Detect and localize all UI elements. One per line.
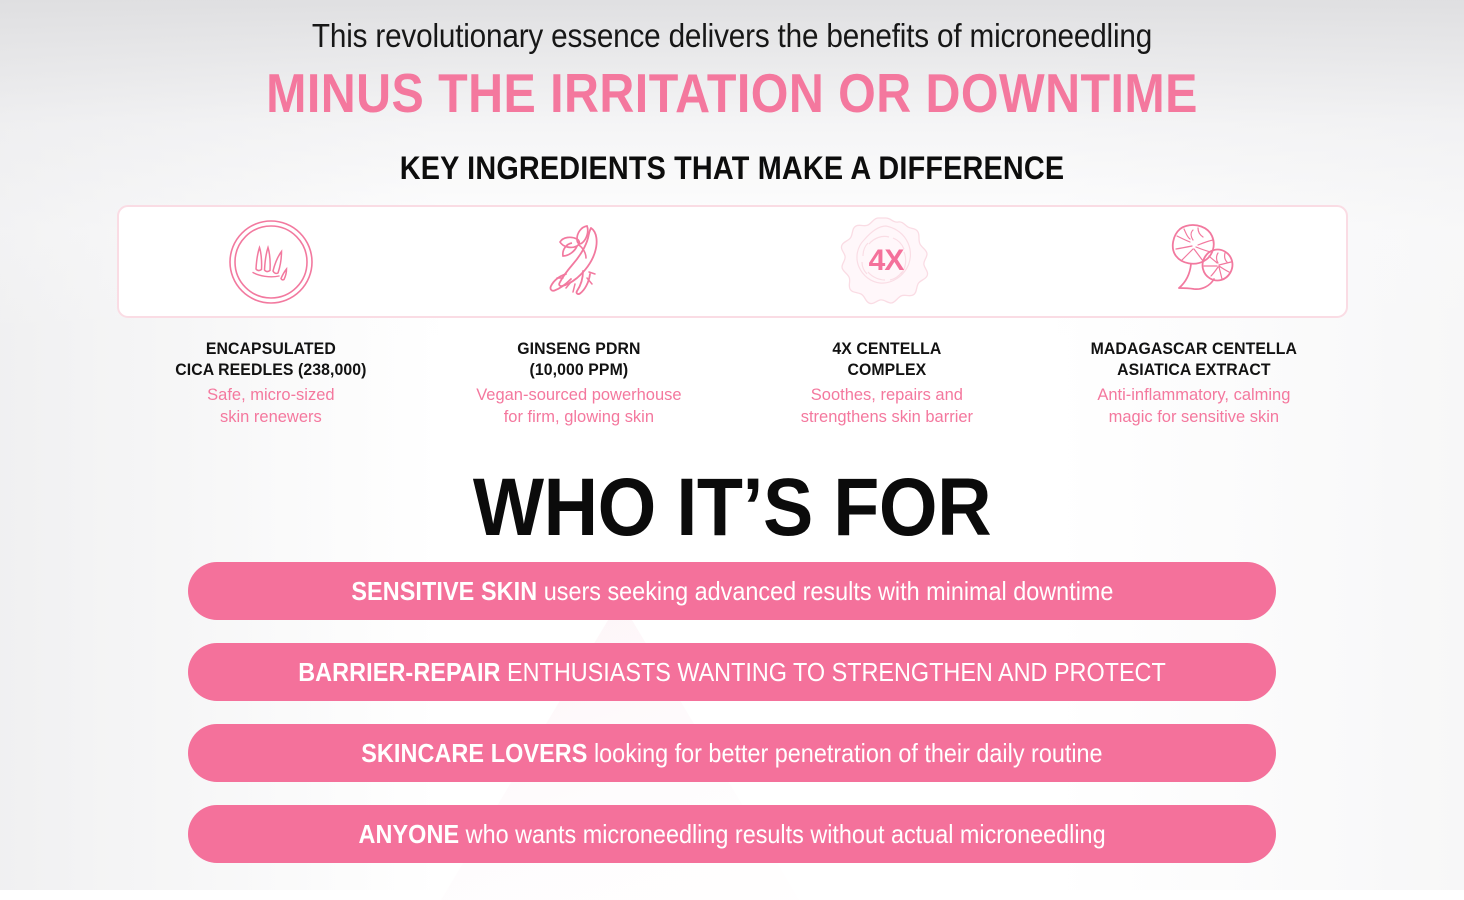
pill-strong-text: BARRIER-REPAIR (298, 657, 500, 687)
ingredient-name: ENCAPSULATED CICA REEDLES (238,000) (128, 338, 414, 380)
ingredient-name: MADAGASCAR CENTELLA ASIATICA EXTRACT (1051, 338, 1337, 380)
ingredient-item-cica-reedles: ENCAPSULATED CICA REEDLES (238,000) Safe… (117, 205, 425, 428)
pill-strong-text: SKINCARE LOVERS (361, 738, 587, 768)
four-x-burst-badge-icon: 4X (733, 205, 1041, 318)
headline-text: MINUS THE IRRITATION OR DOWNTIME (88, 60, 1376, 126)
ingredient-item-ginseng-pdrn: GINSENG PDRN (10,000 PPM) Vegan-sourced … (425, 205, 733, 428)
subheading-key-ingredients: KEY INGREDIENTS THAT MAKE A DIFFERENCE (73, 148, 1391, 188)
pill-regular-text: who wants microneedling results without … (459, 819, 1105, 849)
pill-regular-text: users seeking advanced results with mini… (537, 576, 1113, 606)
ingredient-item-4x-centella: 4X 4X CENTELLA COMPLEX Soothes, repairs … (733, 205, 1041, 428)
audience-pill-barrier-repair: BARRIER-REPAIR ENTHUSIASTS WANTING TO ST… (188, 643, 1276, 701)
cica-needles-circle-icon (117, 205, 425, 318)
ingredient-text-cica-reedles: ENCAPSULATED CICA REEDLES (238,000) Safe… (117, 338, 425, 428)
ingredient-description: Anti-inflammatory, calming magic for sen… (1045, 384, 1344, 428)
ginseng-root-icon (425, 205, 733, 318)
ingredient-description: Safe, micro-sized skin renewers (122, 384, 421, 428)
pill-regular-text: ENTHUSIASTS WANTING TO STRENGTHEN AND PR… (501, 657, 1166, 687)
ingredient-name: 4X CENTELLA COMPLEX (743, 338, 1029, 380)
centella-leaves-icon (1040, 205, 1348, 318)
audience-pill-list: SENSITIVE SKIN users seeking advanced re… (188, 562, 1276, 886)
audience-pill-sensitive-skin: SENSITIVE SKIN users seeking advanced re… (188, 562, 1276, 620)
infographic-page: This revolutionary essence delivers the … (0, 0, 1464, 890)
ingredient-text-4x-centella: 4X CENTELLA COMPLEX Soothes, repairs and… (733, 338, 1041, 428)
ingredients-grid: ENCAPSULATED CICA REEDLES (238,000) Safe… (117, 205, 1348, 428)
audience-pill-skincare-lovers: SKINCARE LOVERS looking for better penet… (188, 724, 1276, 782)
ingredient-text-ginseng-pdrn: GINSENG PDRN (10,000 PPM) Vegan-sourced … (425, 338, 733, 428)
who-its-for-title: WHO IT’S FOR (59, 462, 1406, 554)
pill-strong-text: SENSITIVE SKIN (351, 576, 537, 606)
pill-regular-text: looking for better penetration of their … (588, 738, 1103, 768)
ingredient-name: GINSENG PDRN (10,000 PPM) (436, 338, 722, 380)
pill-strong-text: ANYONE (358, 819, 459, 849)
ingredient-item-madagascar-centella: MADAGASCAR CENTELLA ASIATICA EXTRACT Ant… (1040, 205, 1348, 428)
kicker-text: This revolutionary essence delivers the … (73, 16, 1391, 56)
audience-pill-anyone: ANYONE who wants microneedling results w… (188, 805, 1276, 863)
ingredient-text-madagascar-centella: MADAGASCAR CENTELLA ASIATICA EXTRACT Ant… (1040, 338, 1348, 428)
ingredient-description: Soothes, repairs and strengthens skin ba… (737, 384, 1036, 428)
ingredient-description: Vegan-sourced powerhouse for firm, glowi… (429, 384, 728, 428)
four-x-badge-label: 4X (869, 244, 905, 277)
